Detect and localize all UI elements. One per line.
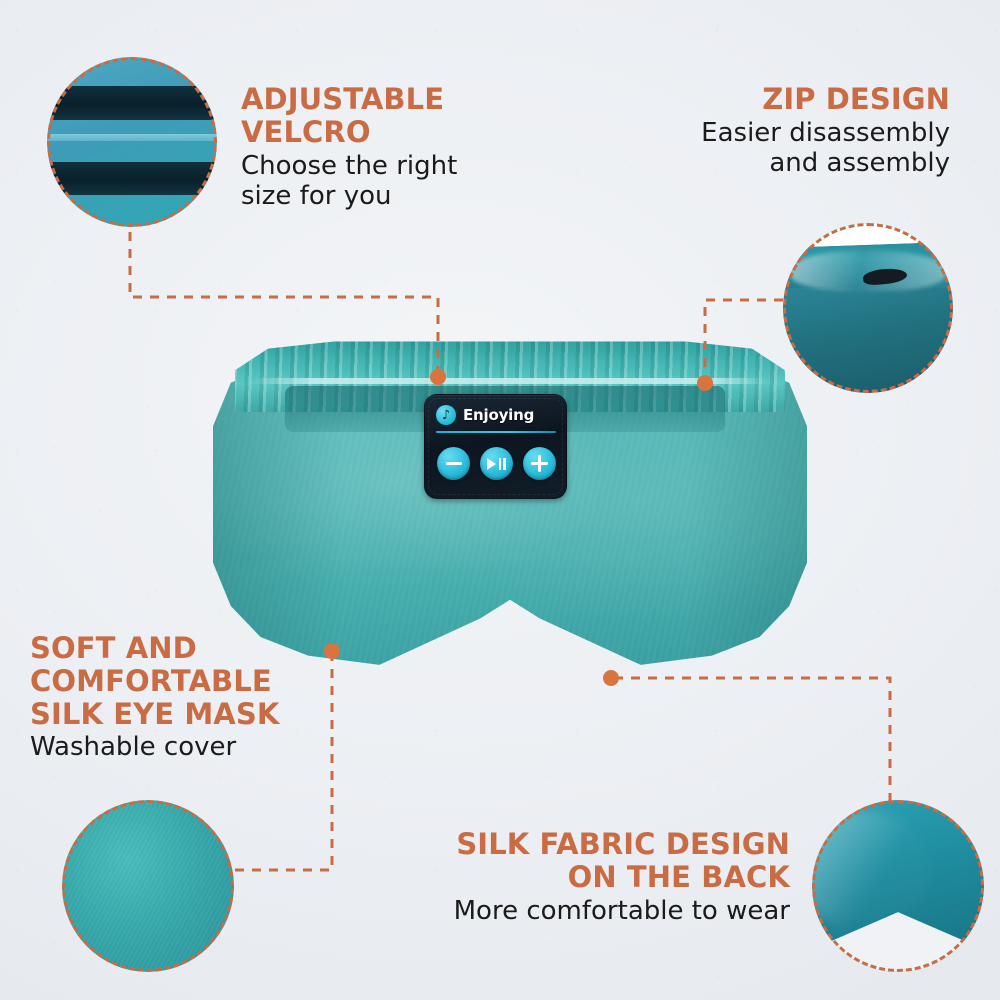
minus-icon: [446, 462, 462, 466]
callout-text-adjustable-velcro: ADJUSTABLE VELCRO Choose the right size …: [241, 83, 541, 212]
silk-back-photo: [812, 800, 984, 972]
zip-lower-panel: [783, 288, 953, 393]
callout-circle-soft-comfortable: [62, 800, 234, 972]
callout-circle-silk-fabric-back: [812, 800, 984, 972]
subtext-line-2: size for you: [241, 181, 541, 212]
headline-line-1: ADJUSTABLE: [241, 83, 541, 116]
lining-trim-edge: [251, 378, 769, 384]
module-brand-label: Enjoying: [463, 406, 534, 424]
subtext-line-2: and assembly: [600, 148, 950, 179]
plus-icon: [531, 455, 548, 472]
headline-line-1: SILK FABRIC DESIGN: [380, 828, 790, 861]
velcro-strips-photo: [47, 57, 217, 227]
subtext-line-1: Choose the right: [241, 151, 541, 182]
velvet-nap-texture: [62, 800, 234, 972]
headline-line-2: VELCRO: [241, 116, 541, 149]
subtext-line-1: More comfortable to wear: [380, 896, 790, 927]
module-button-row: [437, 447, 556, 480]
module-divider-rule: [436, 431, 556, 433]
zip-satin-sheen: [790, 250, 946, 291]
eye-mask-product-photo: ♪ Enjoying: [195, 330, 825, 675]
callout-circle-adjustable-velcro: [47, 57, 217, 227]
velcro-strip-bottom: [47, 162, 217, 194]
module-header: ♪ Enjoying: [436, 405, 534, 425]
headline-line-1: ZIP DESIGN: [600, 83, 950, 116]
play-pause-icon: [487, 458, 506, 470]
connector-silk-back: [616, 678, 890, 802]
callout-text-zip-design: ZIP DESIGN Easier disassembly and assemb…: [600, 83, 950, 179]
subtext-line-1: Washable cover: [30, 732, 360, 763]
volume-down-button[interactable]: [437, 447, 470, 480]
play-pause-button[interactable]: [480, 447, 513, 480]
infographic-canvas: ♪ Enjoying: [0, 0, 1000, 1000]
velcro-seam: [47, 134, 217, 141]
headline-line-2: COMFORTABLE: [30, 665, 360, 698]
music-note-icon: ♪: [436, 405, 456, 425]
volume-up-button[interactable]: [523, 447, 556, 480]
subtext-line-1: Easier disassembly: [600, 118, 950, 149]
headline-line-2: ON THE BACK: [380, 861, 790, 894]
velvet-fabric-photo: [62, 800, 234, 972]
mask-nose-notch: [458, 620, 568, 672]
bluetooth-control-module[interactable]: ♪ Enjoying: [424, 394, 567, 499]
headline-line-1: SOFT AND: [30, 632, 360, 665]
headline-line-3: SILK EYE MASK: [30, 698, 360, 731]
velcro-strip-top: [47, 86, 217, 120]
callout-text-soft-comfortable: SOFT AND COMFORTABLE SILK EYE MASK Washa…: [30, 632, 360, 763]
velcro-fabric-background: [47, 57, 217, 227]
zipper-closeup-photo: [783, 223, 953, 393]
callout-circle-zip-design: [783, 223, 953, 393]
callout-text-silk-fabric-back: SILK FABRIC DESIGN ON THE BACK More comf…: [380, 828, 790, 926]
